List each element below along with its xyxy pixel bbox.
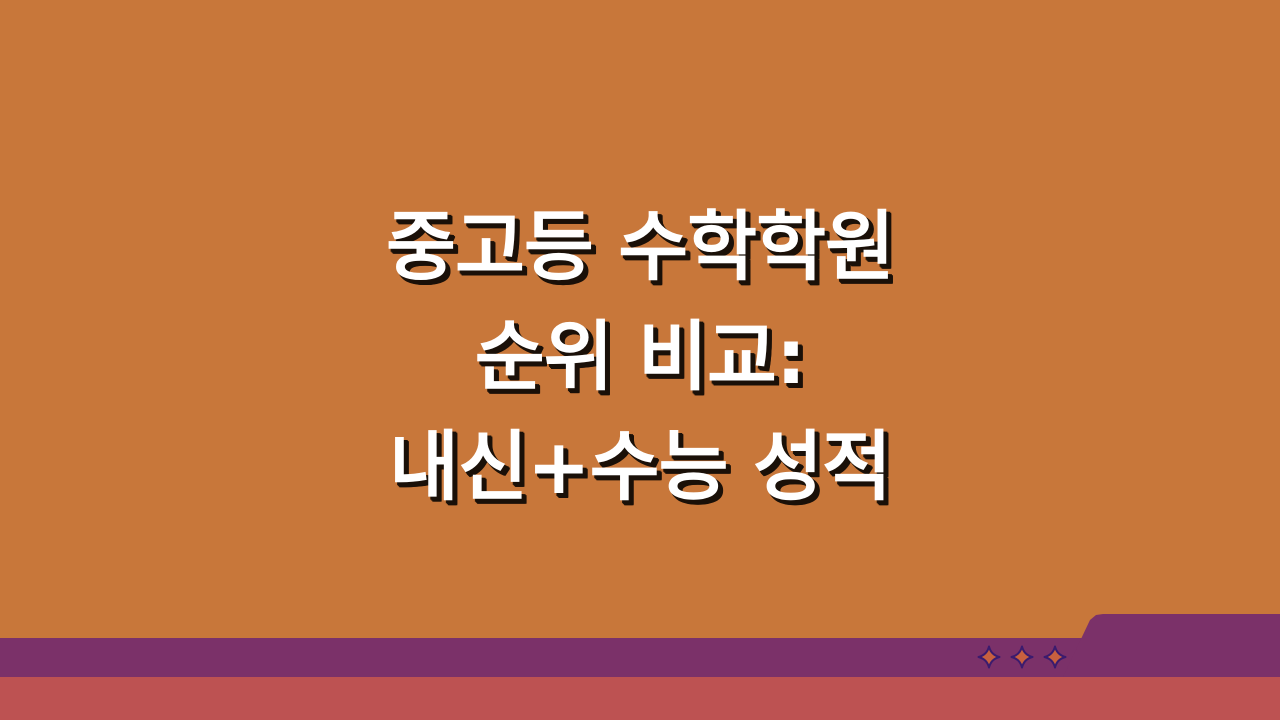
title-line-1: 중고등 수학학원 [0, 192, 1280, 302]
title-line-3: 내신+수능 성적 [0, 412, 1280, 522]
slide-title: 중고등 수학학원 순위 비교: 내신+수능 성적 [0, 192, 1280, 522]
footer-red-band [0, 677, 1280, 720]
slide-canvas: 중고등 수학학원 순위 비교: 내신+수능 성적 [0, 0, 1280, 720]
footer-decoration [0, 600, 1280, 720]
sparkle-diamond-icon [1009, 644, 1035, 670]
title-line-2: 순위 비교: [0, 302, 1280, 412]
sparkle-diamond-icon [976, 644, 1002, 670]
sparkle-diamond-icon [1042, 644, 1068, 670]
footer-purple-step-shape [1063, 614, 1280, 677]
